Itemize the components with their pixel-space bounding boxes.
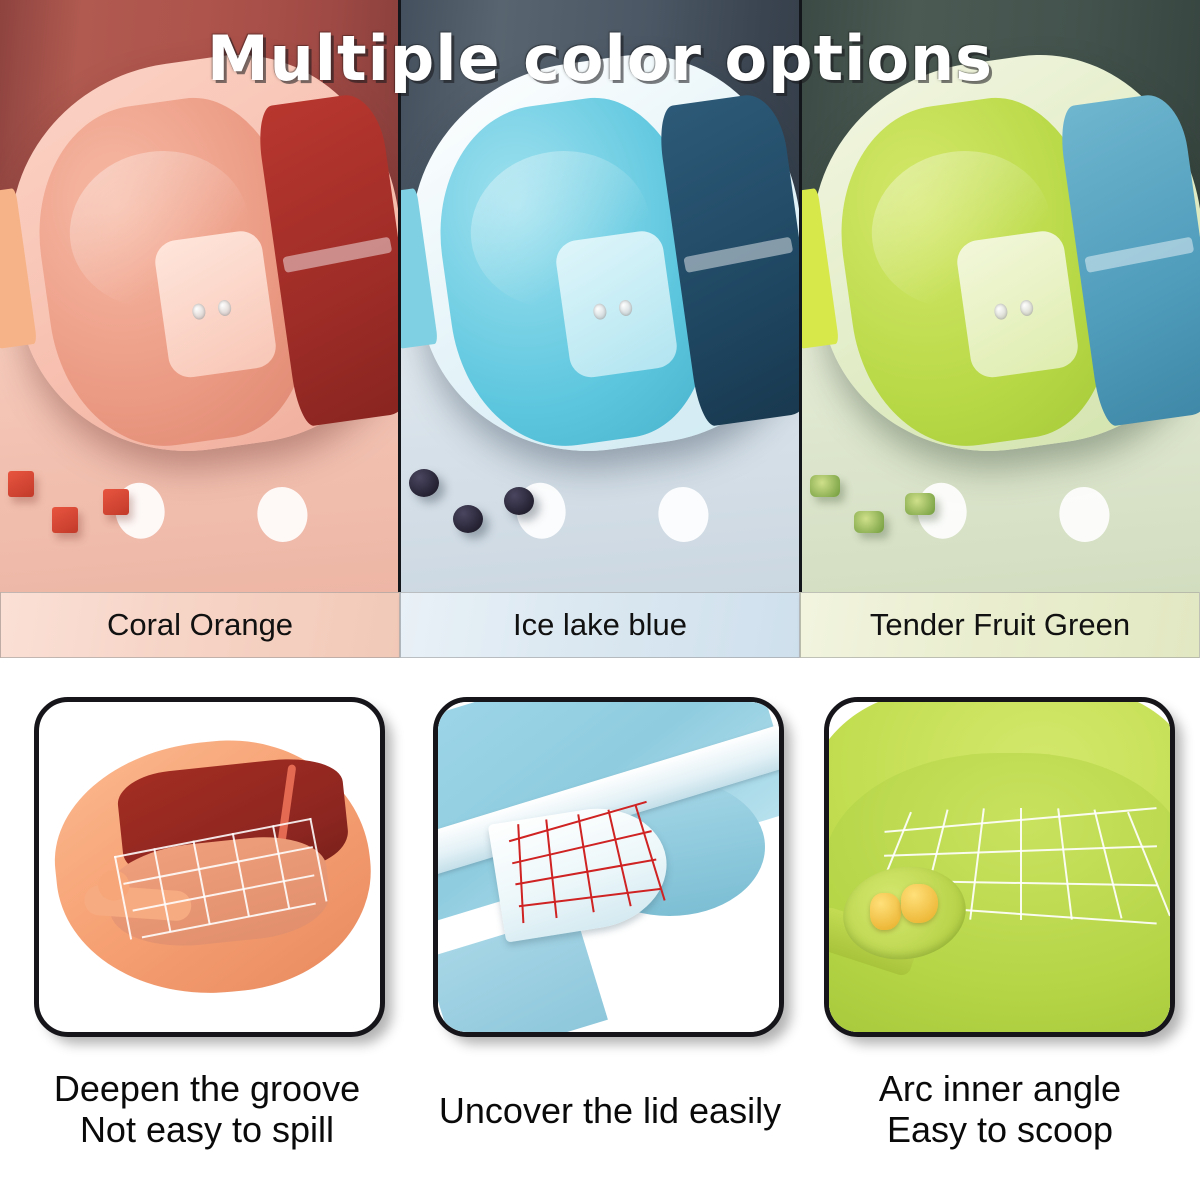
- feature-caption-lid: Uncover the lid easily: [400, 1090, 820, 1131]
- caption-line-2: Not easy to spill: [0, 1109, 417, 1150]
- caption-line-2: Easy to scoop: [790, 1109, 1200, 1150]
- corn-kernel: [901, 884, 939, 924]
- lid-illustration: [438, 702, 779, 1032]
- suction-dot-left: [592, 304, 607, 322]
- feature-caption-groove: Deepen the groove Not easy to spill: [0, 1068, 417, 1150]
- feature-image-groove: [34, 697, 385, 1037]
- color-label-coral[interactable]: Coral Orange: [0, 592, 400, 658]
- caption-line-1: Uncover the lid easily: [400, 1090, 820, 1131]
- color-panel-coral[interactable]: [0, 0, 398, 658]
- suction-dot-right: [1019, 300, 1034, 318]
- feature-card-lid[interactable]: [433, 697, 784, 1037]
- food-prop: [8, 471, 34, 497]
- caption-line-1: Deepen the groove: [0, 1068, 417, 1109]
- food-prop: [854, 511, 884, 533]
- food-prop: [103, 489, 129, 515]
- bowl-illustration: [44, 726, 382, 1008]
- suction-dot-right: [618, 300, 633, 318]
- feature-card-row: Deepen the groove Not easy to spill Unco…: [0, 670, 1200, 1200]
- food-prop: [52, 507, 78, 533]
- food-prop: [453, 505, 483, 533]
- suction-pad: [954, 229, 1080, 381]
- suction-dot-left: [191, 304, 206, 322]
- hero-title: Multiple color options: [0, 22, 1200, 95]
- feature-caption-scoop: Arc inner angle Easy to scoop: [790, 1068, 1200, 1150]
- feature-card-groove[interactable]: [34, 697, 385, 1037]
- color-options-hero: Multiple color options Coral Orange Ice …: [0, 0, 1200, 658]
- suction-pad: [553, 229, 679, 381]
- color-panel-blue[interactable]: [398, 0, 799, 658]
- caption-line-1: Arc inner angle: [790, 1068, 1200, 1109]
- suction-pad: [152, 229, 278, 381]
- feature-image-scoop: [824, 697, 1175, 1037]
- corn-kernel: [870, 893, 901, 929]
- color-band-row: [0, 0, 1200, 658]
- color-panel-green[interactable]: [799, 0, 1200, 658]
- color-label-green[interactable]: Tender Fruit Green: [800, 592, 1200, 658]
- feature-card-scoop[interactable]: [824, 697, 1175, 1037]
- food-prop: [810, 475, 840, 497]
- suction-dot-right: [217, 300, 232, 318]
- color-label-row: Coral Orange Ice lake blue Tender Fruit …: [0, 592, 1200, 658]
- scoop-illustration: [829, 702, 1170, 1032]
- food-prop: [905, 493, 935, 515]
- feature-image-lid: [433, 697, 784, 1037]
- suction-dot-left: [993, 304, 1008, 322]
- color-label-blue[interactable]: Ice lake blue: [400, 592, 800, 658]
